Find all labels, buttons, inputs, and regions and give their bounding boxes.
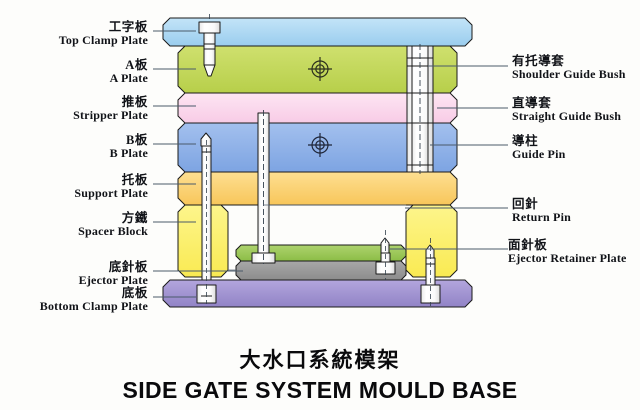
label-bottom-clamp-plate: 底板 Bottom Clamp Plate [0,286,148,313]
label-a-plate: A板 A Plate [0,58,148,85]
label-shoulder-guide-bush-en: Shoulder Guide Bush [512,68,640,81]
title-chinese: 大水口系統模架 [0,344,640,374]
label-top-clamp-plate: 工字板 Top Clamp Plate [0,20,148,47]
label-stripper-plate-cn: 推板 [0,95,148,109]
label-ejector-retainer-plate-cn: 面針板 [508,238,640,252]
label-bottom-clamp-plate-cn: 底板 [0,286,148,300]
label-b-plate: B板 B Plate [0,133,148,160]
label-spacer-block-cn: 方鐵 [0,211,148,225]
label-ejector-plate: 底針板 Ejector Plate [0,260,148,287]
label-guide-pin: 導柱 Guide Pin [512,134,640,161]
label-b-plate-en: B Plate [0,147,148,160]
label-support-plate-en: Support Plate [0,187,148,200]
label-shoulder-guide-bush-cn: 有托導套 [512,54,640,68]
label-support-plate: 托板 Support Plate [0,173,148,200]
label-top-clamp-plate-cn: 工字板 [0,20,148,34]
label-return-pin-en: Return Pin [512,211,640,224]
label-guide-pin-en: Guide Pin [512,148,640,161]
label-support-plate-cn: 托板 [0,173,148,187]
label-ejector-plate-cn: 底針板 [0,260,148,274]
plate-support [178,172,457,205]
label-stripper-plate-en: Stripper Plate [0,109,148,122]
label-spacer-block: 方鐵 Spacer Block [0,211,148,238]
label-return-pin: 回針 Return Pin [512,197,640,224]
guide-pin-assembly [407,44,433,174]
label-ejector-retainer-plate-en: Ejector Retainer Plate [508,252,640,265]
label-shoulder-guide-bush: 有托導套 Shoulder Guide Bush [512,54,640,81]
label-return-pin-cn: 回針 [512,197,640,211]
title-block: 大水口系統模架 SIDE GATE SYSTEM MOULD BASE [0,344,640,404]
title-english: SIDE GATE SYSTEM MOULD BASE [0,377,640,404]
label-straight-guide-bush-en: Straight Guide Bush [512,110,640,123]
label-a-plate-cn: A板 [0,58,148,72]
label-straight-guide-bush: 直導套 Straight Guide Bush [512,96,640,123]
label-spacer-block-en: Spacer Block [0,225,148,238]
label-b-plate-cn: B板 [0,133,148,147]
label-bottom-clamp-plate-en: Bottom Clamp Plate [0,300,148,313]
mould-base-diagram-page: 工字板 Top Clamp Plate A板 A Plate 推板 Stripp… [0,0,640,410]
label-top-clamp-plate-en: Top Clamp Plate [0,34,148,47]
label-a-plate-en: A Plate [0,72,148,85]
label-ejector-retainer-plate: 面針板 Ejector Retainer Plate [508,238,640,265]
label-guide-pin-cn: 導柱 [512,134,640,148]
label-stripper-plate: 推板 Stripper Plate [0,95,148,122]
label-straight-guide-bush-cn: 直導套 [512,96,640,110]
